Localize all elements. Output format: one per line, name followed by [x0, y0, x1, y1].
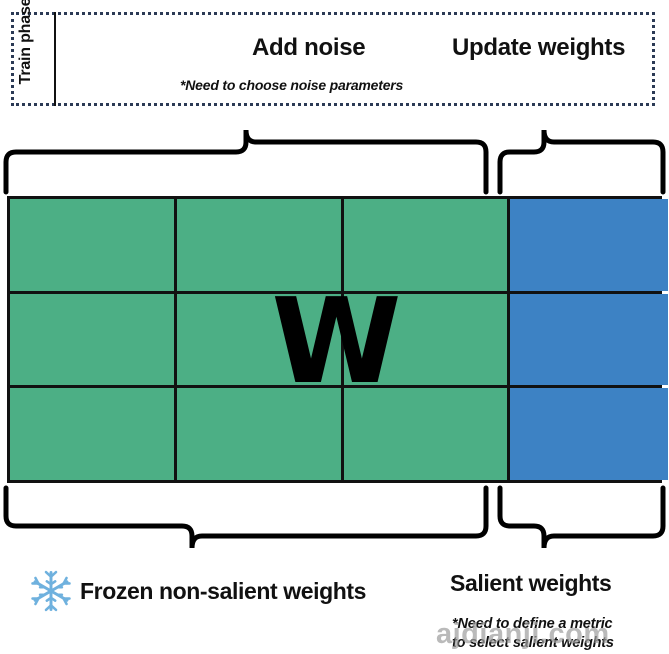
matrix-cell [10, 199, 174, 291]
top-brace-add-noise [6, 130, 486, 192]
matrix-cell [344, 199, 507, 291]
snowflake-icon [30, 570, 72, 612]
step-label-update-weights: Update weights [452, 34, 625, 62]
matrix-cell [344, 294, 507, 386]
salient-note-line-1: *Need to define a metric [452, 615, 614, 634]
salient-weights-note: *Need to define a metric to select salie… [452, 615, 614, 653]
train-phase-label: Train phase [17, 0, 35, 91]
matrix-cell [177, 388, 341, 480]
train-phase-divider [54, 12, 56, 106]
bottom-brace-salient [500, 488, 663, 548]
matrix-cell [344, 388, 507, 480]
top-braces [0, 124, 669, 196]
salient-note-line-2: to select salient weights [452, 634, 614, 653]
legend-item-salient: Salient weights [450, 570, 611, 597]
matrix-cell-salient [510, 294, 668, 386]
add-noise-note: *Need to choose noise parameters [180, 77, 403, 93]
matrix-cell [10, 294, 174, 386]
bottom-braces [0, 484, 669, 560]
matrix-cell-salient [510, 388, 668, 480]
step-label-add-noise: Add noise [252, 34, 365, 62]
legend-item-frozen: Frozen non-salient weights [30, 570, 366, 612]
matrix-cell [177, 294, 341, 386]
diagram-canvas: Train phase Add noise Update weights *Ne… [0, 0, 669, 654]
weight-matrix [7, 196, 662, 483]
top-brace-update-weights [500, 130, 663, 192]
matrix-cell [177, 199, 341, 291]
bottom-brace-frozen [6, 488, 486, 548]
matrix-cell-salient [510, 199, 668, 291]
legend-label-frozen: Frozen non-salient weights [80, 578, 366, 605]
matrix-cell [10, 388, 174, 480]
legend-label-salient: Salient weights [450, 570, 611, 597]
